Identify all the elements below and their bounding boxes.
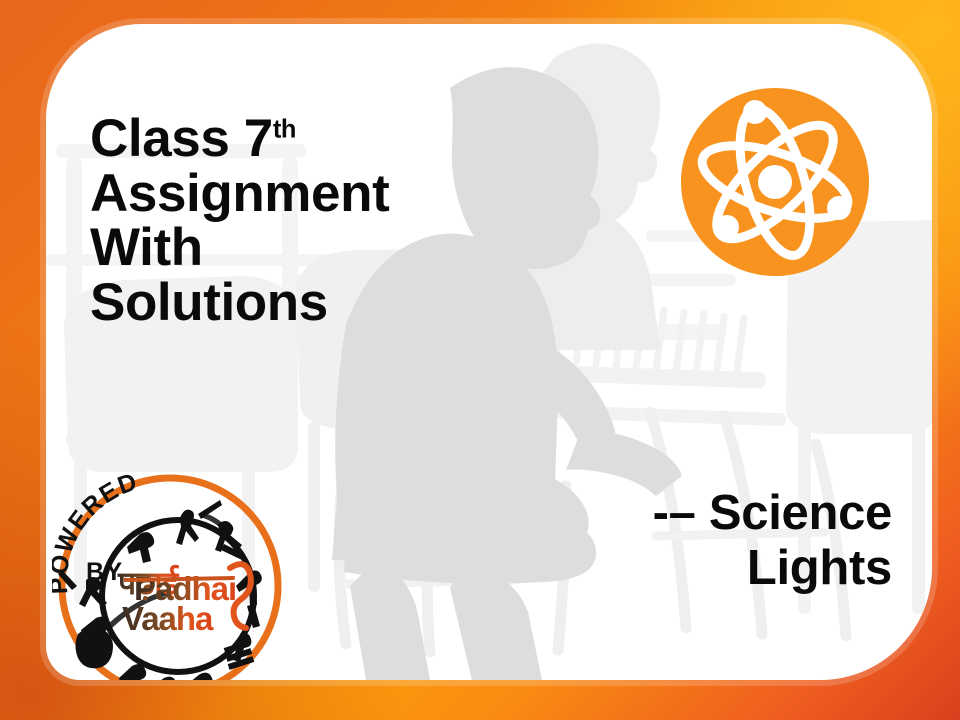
headline-line-2: Assignment xyxy=(90,167,520,222)
ordinal-suffix: th xyxy=(273,115,296,143)
atom-nucleus xyxy=(758,165,792,199)
headline-class-label: Class 7 xyxy=(90,109,273,168)
credit-line-2: Lights xyxy=(432,541,892,596)
logo-brand-bar xyxy=(124,578,234,580)
logo-brand-latin-bottom: Vaaha xyxy=(122,600,214,637)
logo-brand-wordmark: पढ़ाई Padhai Vaaha xyxy=(117,564,251,637)
page-title: Class 7th Assignment With Solutions xyxy=(90,112,520,330)
credit-line: -– Science Lights xyxy=(432,486,892,596)
headline-line-4: Solutions xyxy=(90,276,520,331)
powered-by-logo: POWERED BY xyxy=(52,468,288,680)
headline-line-3: With xyxy=(90,221,520,276)
science-atom-icon xyxy=(679,86,871,278)
atom-electron-top xyxy=(743,100,767,124)
credit-line-1: -– Science xyxy=(432,486,892,541)
white-content-card: Class 7th Assignment With Solutions xyxy=(46,24,932,680)
atom-electron-left xyxy=(715,215,739,239)
headline-line-1: Class 7th xyxy=(90,112,520,167)
poster-canvas: Class 7th Assignment With Solutions xyxy=(0,0,960,720)
atom-electron-right xyxy=(827,196,851,220)
